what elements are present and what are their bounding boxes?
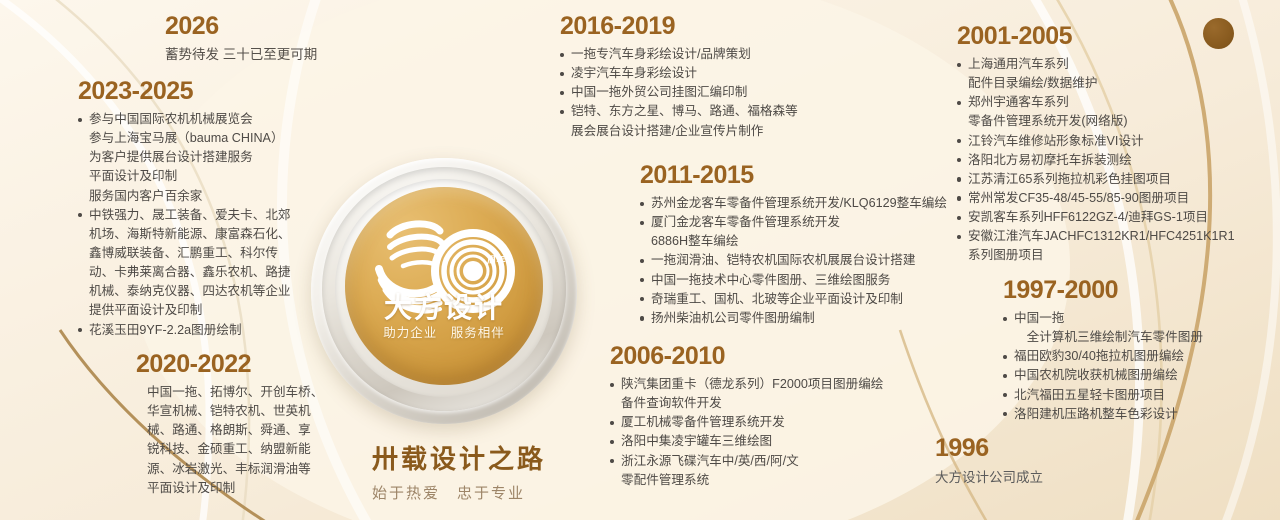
list-item-line: 厦门金龙客车零备件管理系统开发 [651,213,970,232]
list-item: 中国一拖 全计算机三维绘制汽车零件图册 [1003,309,1263,347]
list-item-line: 全计算机三维绘制汽车零件图册 [1014,328,1263,347]
list-item-line: 6886H整车编绘 [651,232,970,251]
list-item-line: 厦工机械零备件管理系统开发 [621,413,930,432]
list-item-line: 一拖润滑油、铠特农机国际农机展展台设计搭建 [651,251,970,270]
list-item-line: 参与上海宝马展（bauma CHINA） [89,129,308,148]
list-item-line: 为客户提供展台设计搭建服务 [89,148,308,167]
list-item: 参与中国国际农机机械展览会参与上海宝马展（bauma CHINA）为客户提供展台… [78,110,308,206]
list-item-line: 服务国内客户百余家 [89,187,308,206]
list-item-line: 一拖专汽车身彩绘设计/品牌策划 [571,45,860,64]
anniversary-badge: 周年 大方设计 助力企业 服务相伴 [311,158,577,424]
list-item: 安凯客车系列HFF6122GZ-4/迪拜GS-1项目 [957,208,1257,227]
list-item-line: 展会展台设计搭建/企业宣传片制作 [571,122,860,141]
list-item: 中国一拖、拓博尔、开创车桥、华宣机械、铠特农机、世英机械、路通、格朗斯、舜通、享… [136,383,336,498]
list-item-line: 洛阳建机压路机整车色彩设计 [1014,405,1263,424]
timeline-entry-2016-2019: 2016-2019 一拖专汽车身彩绘设计/品牌策划凌宇汽车车身彩绘设计中国一拖外… [560,14,860,141]
list-item: 江铃汽车维修站形象标准VI设计 [957,132,1257,151]
list-item: 常州常发CF35-48/45-55/85-90图册项目 [957,189,1257,208]
list-item-line: 铠特、东方之星、博马、路通、福格森等 [571,102,860,121]
subtitle-1996: 大方设计公司成立 [935,468,1155,489]
list-item-line: 浙江永源飞碟汽车中/英/西/阿/文 [621,452,930,471]
item-list-2011-2015: 苏州金龙客车零备件管理系统开发/KLQ6129整车编绘厦门金龙客车零备件管理系统… [640,194,970,328]
list-item: 扬州柴油机公司零件图册编制 [640,309,970,328]
timeline-entry-1997-2000: 1997-2000 中国一拖 全计算机三维绘制汽车零件图册福田欧豹30/40拖拉… [1003,278,1263,424]
item-list-1997-2000: 中国一拖 全计算机三维绘制汽车零件图册福田欧豹30/40拖拉机图册编绘中国农机院… [1003,309,1263,424]
list-item: 洛阳中集凌宇罐车三维绘图 [610,432,930,451]
list-item-line: 北汽福田五星轻卡图册项目 [1014,386,1263,405]
timeline-entry-2006-2010: 2006-2010 陕汽集团重卡（德龙系列）F2000项目图册编绘备件查询软件开… [610,344,930,490]
list-item-line: 平面设计及印制 [89,167,308,186]
list-item-line: 备件查询软件开发 [621,394,930,413]
list-item-line: 中国农机院收获机械图册编绘 [1014,366,1263,385]
list-item: 浙江永源飞碟汽车中/英/西/阿/文零配件管理系统 [610,452,930,490]
list-item: 厦工机械零备件管理系统开发 [610,413,930,432]
subtitle-2026: 蓄势待发 三十已至更可期 [165,45,445,66]
list-item: 中国一拖外贸公司挂图汇编印制 [560,83,860,102]
timeline-entry-2026: 2026 蓄势待发 三十已至更可期 [165,14,445,66]
list-item-line: 机场、海斯特新能源、康富森石化、 [89,225,308,244]
item-list-2023-2025: 参与中国国际农机机械展览会参与上海宝马展（bauma CHINA）为客户提供展台… [78,110,308,340]
list-item-line: 洛阳北方易初摩托车拆装测绘 [968,151,1257,170]
list-item-line: 配件目录编绘/数据维护 [968,74,1257,93]
list-item-line: 陕汽集团重卡（德龙系列）F2000项目图册编绘 [621,375,930,394]
timeline-entry-2011-2015: 2011-2015 苏州金龙客车零备件管理系统开发/KLQ6129整车编绘厦门金… [640,163,970,328]
list-item-line: 郑州宇通客车系列 [968,93,1257,112]
list-item-line: 中国一拖、拓博尔、开创车桥、 [147,383,336,402]
list-item-line: 锐科技、金硕重工、纳盟新能 [147,440,336,459]
list-item-line: 零配件管理系统 [621,471,930,490]
list-item: 中国一拖技术中心零件图册、三维绘图服务 [640,271,970,290]
company-name-label: 大方设计 [345,286,543,326]
year-label-2020-2022: 2020-2022 [136,352,336,377]
item-list-2016-2019: 一拖专汽车身彩绘设计/品牌策划凌宇汽车车身彩绘设计中国一拖外贸公司挂图汇编印制铠… [560,45,860,141]
slogan-secondary: 始于热爱 忠于专业 [372,482,602,503]
list-item-line: 江铃汽车维修站形象标准VI设计 [968,132,1257,151]
list-item: 厦门金龙客车零备件管理系统开发6886H整车编绘 [640,213,970,251]
year-label-2023-2025: 2023-2025 [78,79,308,104]
list-item-line: 鑫博威联装备、汇鹏重工、科尔传 [89,244,308,263]
list-item-line: 福田欧豹30/40拖拉机图册编绘 [1014,347,1263,366]
list-item-line: 常州常发CF35-48/45-55/85-90图册项目 [968,189,1257,208]
year-label-2026: 2026 [165,14,445,39]
year-label-2011-2015: 2011-2015 [640,163,970,188]
list-item-line: 中国一拖技术中心零件图册、三维绘图服务 [651,271,970,290]
item-list-2001-2005: 上海通用汽车系列配件目录编绘/数据维护郑州宇通客车系列零备件管理系统开发(网络版… [957,55,1257,266]
list-item-line: 安凯客车系列HFF6122GZ-4/迪拜GS-1项目 [968,208,1257,227]
list-item-line: 上海通用汽车系列 [968,55,1257,74]
list-item-line: 提供平面设计及印制 [89,301,308,320]
list-item-line: 源、冰岩激光、丰标润滑油等 [147,460,336,479]
year-label-2006-2010: 2006-2010 [610,344,930,369]
timeline-entry-2020-2022: 2020-2022 中国一拖、拓博尔、开创车桥、华宣机械、铠特农机、世英机械、路… [136,352,336,498]
timeline-entry-1996: 1996 大方设计公司成立 [935,436,1155,489]
timeline-entry-2023-2025: 2023-2025 参与中国国际农机机械展览会参与上海宝马展（bauma CHI… [78,79,308,340]
list-item: 铠特、东方之星、博马、路通、福格森等展会展台设计搭建/企业宣传片制作 [560,102,860,140]
list-item-line: 系列图册项目 [968,246,1257,265]
list-item: 苏州金龙客车零备件管理系统开发/KLQ6129整车编绘 [640,194,970,213]
list-item-line: 中国一拖 [1014,309,1263,328]
list-item: 北汽福田五星轻卡图册项目 [1003,386,1263,405]
list-item-line: 中铁强力、晟工装备、爱夫卡、北郊 [89,206,308,225]
list-item-line: 安徽江淮汽车JACHFC1312KR1/HFC4251K1R1 [968,227,1257,246]
list-item-line: 奇瑞重工、国机、北玻等企业平面设计及印制 [651,290,970,309]
list-item: 安徽江淮汽车JACHFC1312KR1/HFC4251K1R1系列图册项目 [957,227,1257,265]
year-label-2001-2005: 2001-2005 [957,24,1257,49]
anniversary-suffix-label: 周年 [487,253,506,266]
item-list-2020-2022: 中国一拖、拓博尔、开创车桥、华宣机械、铠特农机、世英机械、路通、格朗斯、舜通、享… [136,383,336,498]
list-item: 中国农机院收获机械图册编绘 [1003,366,1263,385]
list-item-line: 扬州柴油机公司零件图册编制 [651,309,970,328]
list-item: 福田欧豹30/40拖拉机图册编绘 [1003,347,1263,366]
list-item: 一拖润滑油、铠特农机国际农机展展台设计搭建 [640,251,970,270]
timeline-entry-2001-2005: 2001-2005 上海通用汽车系列配件目录编绘/数据维护郑州宇通客车系列零备件… [957,24,1257,266]
list-item-line: 平面设计及印制 [147,479,336,498]
list-item: 奇瑞重工、国机、北玻等企业平面设计及印制 [640,290,970,309]
year-label-1996: 1996 [935,436,1155,461]
list-item: 凌宇汽车车身彩绘设计 [560,64,860,83]
year-label-2016-2019: 2016-2019 [560,14,860,39]
slogan-block: 卅载设计之路 始于热爱 忠于专业 [372,445,602,503]
list-item-line: 械、路通、格朗斯、舜通、享 [147,421,336,440]
year-label-1997-2000: 1997-2000 [1003,278,1263,303]
list-item-line: 花溪玉田9YF-2.2a图册绘制 [89,321,308,340]
list-item-line: 机械、泰纳克仪器、四达农机等企业 [89,282,308,301]
list-item: 江苏清江65系列拖拉机彩色挂图项目 [957,170,1257,189]
list-item-line: 华宣机械、铠特农机、世英机 [147,402,336,421]
list-item-line: 洛阳中集凌宇罐车三维绘图 [621,432,930,451]
infographic-canvas: 2026 蓄势待发 三十已至更可期 2023-2025 参与中国国际农机机械展览… [0,0,1280,520]
list-item-line: 中国一拖外贸公司挂图汇编印制 [571,83,860,102]
list-item: 洛阳北方易初摩托车拆装测绘 [957,151,1257,170]
item-list-2006-2010: 陕汽集团重卡（德龙系列）F2000项目图册编绘备件查询软件开发厦工机械零备件管理… [610,375,930,490]
slogan-main: 卅载设计之路 [372,445,602,475]
list-item-line: 江苏清江65系列拖拉机彩色挂图项目 [968,170,1257,189]
list-item-line: 动、卡弗莱离合器、鑫乐农机、路捷 [89,263,308,282]
list-item: 洛阳建机压路机整车色彩设计 [1003,405,1263,424]
list-item-line: 凌宇汽车车身彩绘设计 [571,64,860,83]
list-item-line: 零备件管理系统开发(网络版) [968,112,1257,131]
list-item: 郑州宇通客车系列零备件管理系统开发(网络版) [957,93,1257,131]
list-item: 陕汽集团重卡（德龙系列）F2000项目图册编绘备件查询软件开发 [610,375,930,413]
list-item: 中铁强力、晟工装备、爱夫卡、北郊机场、海斯特新能源、康富森石化、鑫博威联装备、汇… [78,206,308,321]
list-item-line: 参与中国国际农机机械展览会 [89,110,308,129]
list-item: 花溪玉田9YF-2.2a图册绘制 [78,321,308,340]
list-item-line: 苏州金龙客车零备件管理系统开发/KLQ6129整车编绘 [651,194,970,213]
company-tagline-label: 助力企业 服务相伴 [345,322,543,341]
list-item: 一拖专汽车身彩绘设计/品牌策划 [560,45,860,64]
list-item: 上海通用汽车系列配件目录编绘/数据维护 [957,55,1257,93]
